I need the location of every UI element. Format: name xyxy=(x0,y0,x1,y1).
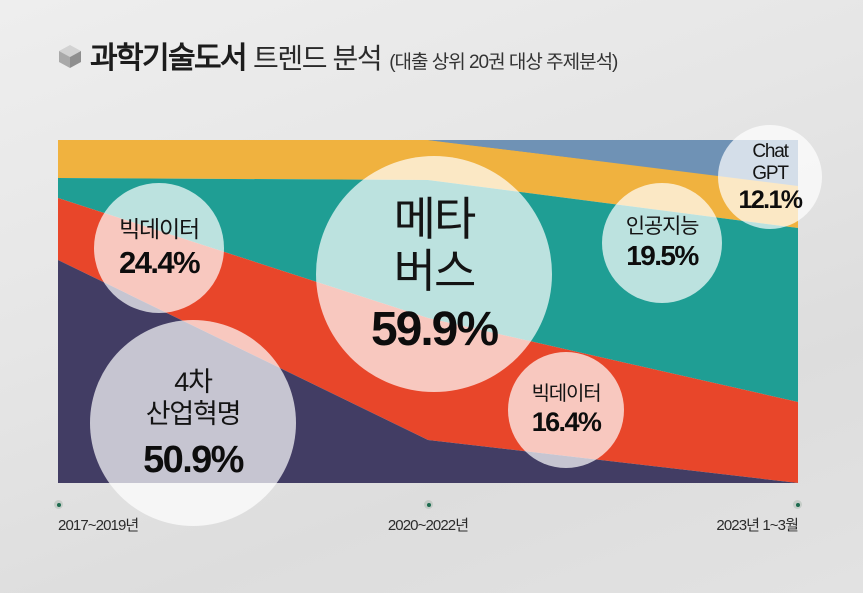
bubble-value: 59.9% xyxy=(371,306,497,354)
page-title: 과학기술도서 트렌드 분석 (대출 상위 20권 대상 주제분석) xyxy=(57,33,617,77)
bubble-label: 빅데이터 xyxy=(119,218,199,241)
axis-label-2017-2019: 2017~2019년 xyxy=(58,514,138,535)
axis-tick-dot xyxy=(54,500,63,509)
bubble-label: Chat GPT xyxy=(752,141,787,184)
axis-label-2020-2022: 2020~2022년 xyxy=(388,514,468,535)
bubble-label: 빅데이터 xyxy=(532,384,601,404)
title-sub: 트렌드 분석 xyxy=(253,37,381,77)
bubble-ai[interactable]: 인공지능 19.5% xyxy=(602,183,722,303)
bubble-label: 인공지능 xyxy=(626,216,698,237)
bubble-value: 24.4% xyxy=(119,247,199,278)
axis-label-2023: 2023년 1~3월 xyxy=(716,514,798,535)
x-axis: 2017~2019년 2020~2022년 2023년 1~3월 xyxy=(58,483,798,543)
bubble-value: 19.5% xyxy=(626,242,697,270)
bubble-label: 4차 산업혁명 xyxy=(146,367,241,431)
bubble-bigdata-2017[interactable]: 빅데이터 24.4% xyxy=(94,183,224,313)
title-main: 과학기술도서 xyxy=(90,33,246,77)
axis-tick-dot xyxy=(424,500,433,509)
infographic-canvas: 과학기술도서 트렌드 분석 (대출 상위 20권 대상 주제분석) 빅데이터 xyxy=(0,0,863,593)
bubble-metaverse[interactable]: 메타 버스 59.9% xyxy=(316,156,552,392)
bubble-label: 메타 버스 xyxy=(394,194,475,297)
stream-chart: 빅데이터 24.4% 4차 산업혁명 50.9% 메타 버스 59.9% 빅데이… xyxy=(58,140,798,483)
axis-tick-dot xyxy=(793,500,802,509)
bubble-value: 16.4% xyxy=(532,409,601,436)
bubble-value: 12.1% xyxy=(739,188,802,213)
bubble-chatgpt[interactable]: Chat GPT 12.1% xyxy=(718,125,822,229)
bubble-value: 50.9% xyxy=(143,441,243,479)
bubble-bigdata-2023[interactable]: 빅데이터 16.4% xyxy=(508,352,624,468)
cube-icon xyxy=(57,43,83,69)
title-note: (대출 상위 20권 대상 주제분석) xyxy=(389,47,617,74)
